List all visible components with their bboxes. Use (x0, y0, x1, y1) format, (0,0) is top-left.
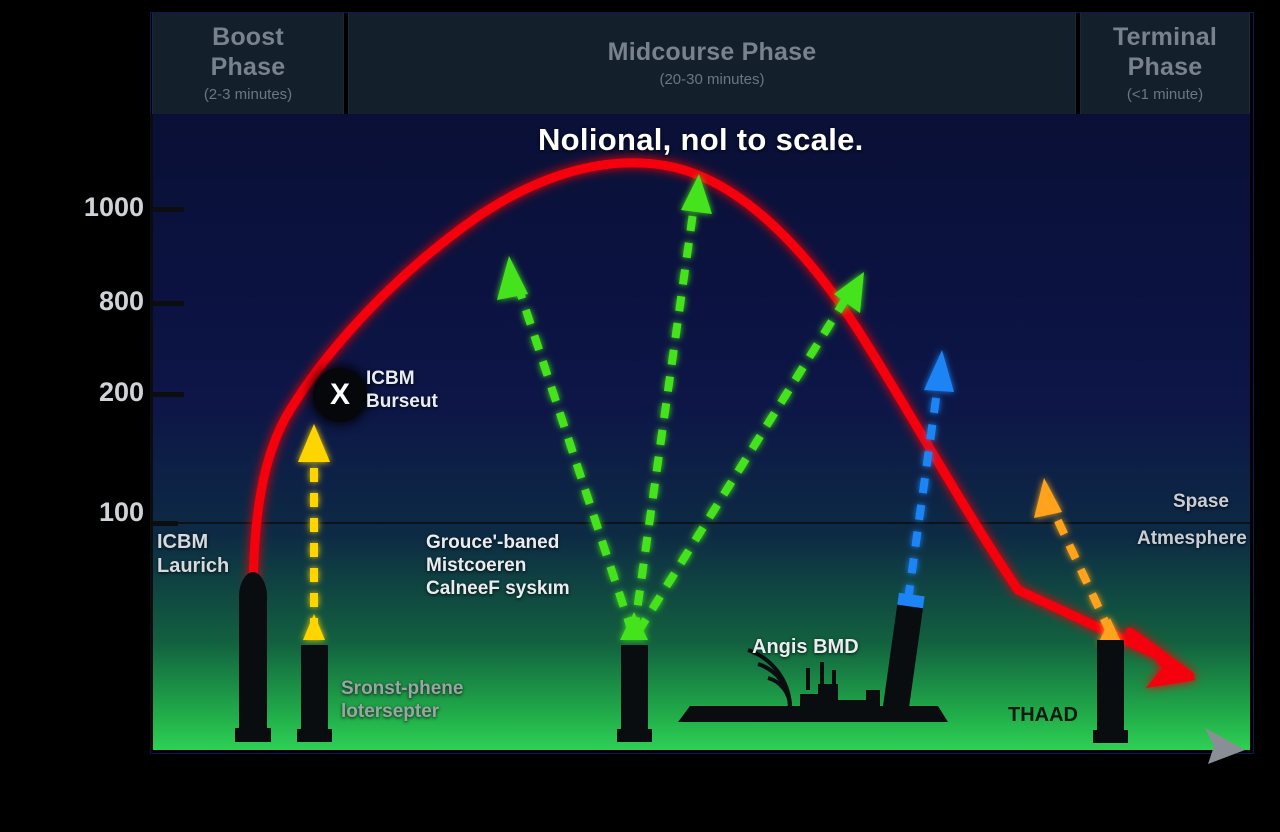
phase-cell-terminal[interactable]: Terminal Phase (<1 minute) (1080, 12, 1250, 114)
notional-title: Nolional, nol to scale. (538, 121, 864, 158)
boost-interceptor-line2: lotersepter (341, 701, 439, 722)
phase-duration-boost: (2-3 minutes) (204, 86, 292, 103)
icbm-launch-line2: Laurich (157, 555, 229, 577)
ground-based-line2: Mistcoeren (426, 555, 526, 576)
ground-based-line1: Grouce'-baned (426, 532, 559, 553)
burnout-marker-icon: X (313, 368, 367, 422)
thaad-label: THAAD (1008, 703, 1078, 727)
y-tick-label-0: 1000 (34, 192, 144, 223)
phase-title-terminal-line2: Phase (1128, 53, 1203, 81)
y-tick-label-1: 800 (34, 286, 144, 317)
phase-cell-midcourse[interactable]: Midcourse Phase (20-30 minutes) (348, 12, 1076, 114)
icbm-launch-line1: ICBM (157, 531, 208, 553)
boost-phase-interceptor-label: Sronst-phene lotersepter (341, 678, 463, 724)
burnout-marker-glyph: X (330, 378, 350, 412)
missile-defense-diagram: Boost Phase (2-3 minutes) Midcourse Phas… (0, 0, 1280, 832)
y-tick-label-3: 100 (34, 497, 144, 528)
phase-duration-terminal: (<1 minute) (1127, 86, 1203, 103)
phase-title-terminal: Terminal Phase (1113, 23, 1217, 82)
plot-area (152, 114, 1250, 750)
atmosphere-region-label: Atmesphere (1137, 528, 1247, 551)
phase-title-boost-line2: Phase (211, 53, 286, 81)
icbm-burnout-line1: ICBM (366, 368, 415, 389)
boost-interceptor-line1: Sronst-phene (341, 678, 463, 699)
y-tick-3 (152, 521, 178, 526)
phase-title-boost-line1: Boost (212, 23, 284, 51)
ground-based-line3: CalneeF syskım (426, 578, 570, 599)
y-tick-2 (152, 392, 184, 397)
phase-header-band: Boost Phase (2-3 minutes) Midcourse Phas… (152, 12, 1250, 114)
icbm-burnout-label: ICBM Burseut (366, 368, 438, 414)
y-tick-0 (152, 207, 184, 212)
phase-title-terminal-line1: Terminal (1113, 23, 1217, 51)
phase-cell-boost[interactable]: Boost Phase (2-3 minutes) (152, 12, 344, 114)
phase-title-boost: Boost Phase (211, 23, 286, 82)
phase-duration-midcourse: (20-30 minutes) (659, 71, 764, 88)
icbm-launch-label: ICBM Laurich (157, 530, 229, 578)
ground-based-midcourse-label: Grouce'-baned Mistcoeren CalneeF syskım (426, 532, 570, 600)
phase-title-midcourse: Midcourse Phase (608, 38, 817, 68)
y-tick-label-2: 200 (34, 377, 144, 408)
atmosphere-boundary-line (152, 522, 1250, 524)
y-tick-1 (152, 301, 184, 306)
icbm-burnout-line2: Burseut (366, 391, 438, 412)
space-region-label: Spase (1173, 491, 1229, 514)
aegis-bmd-label: Angis BMD (752, 635, 859, 659)
